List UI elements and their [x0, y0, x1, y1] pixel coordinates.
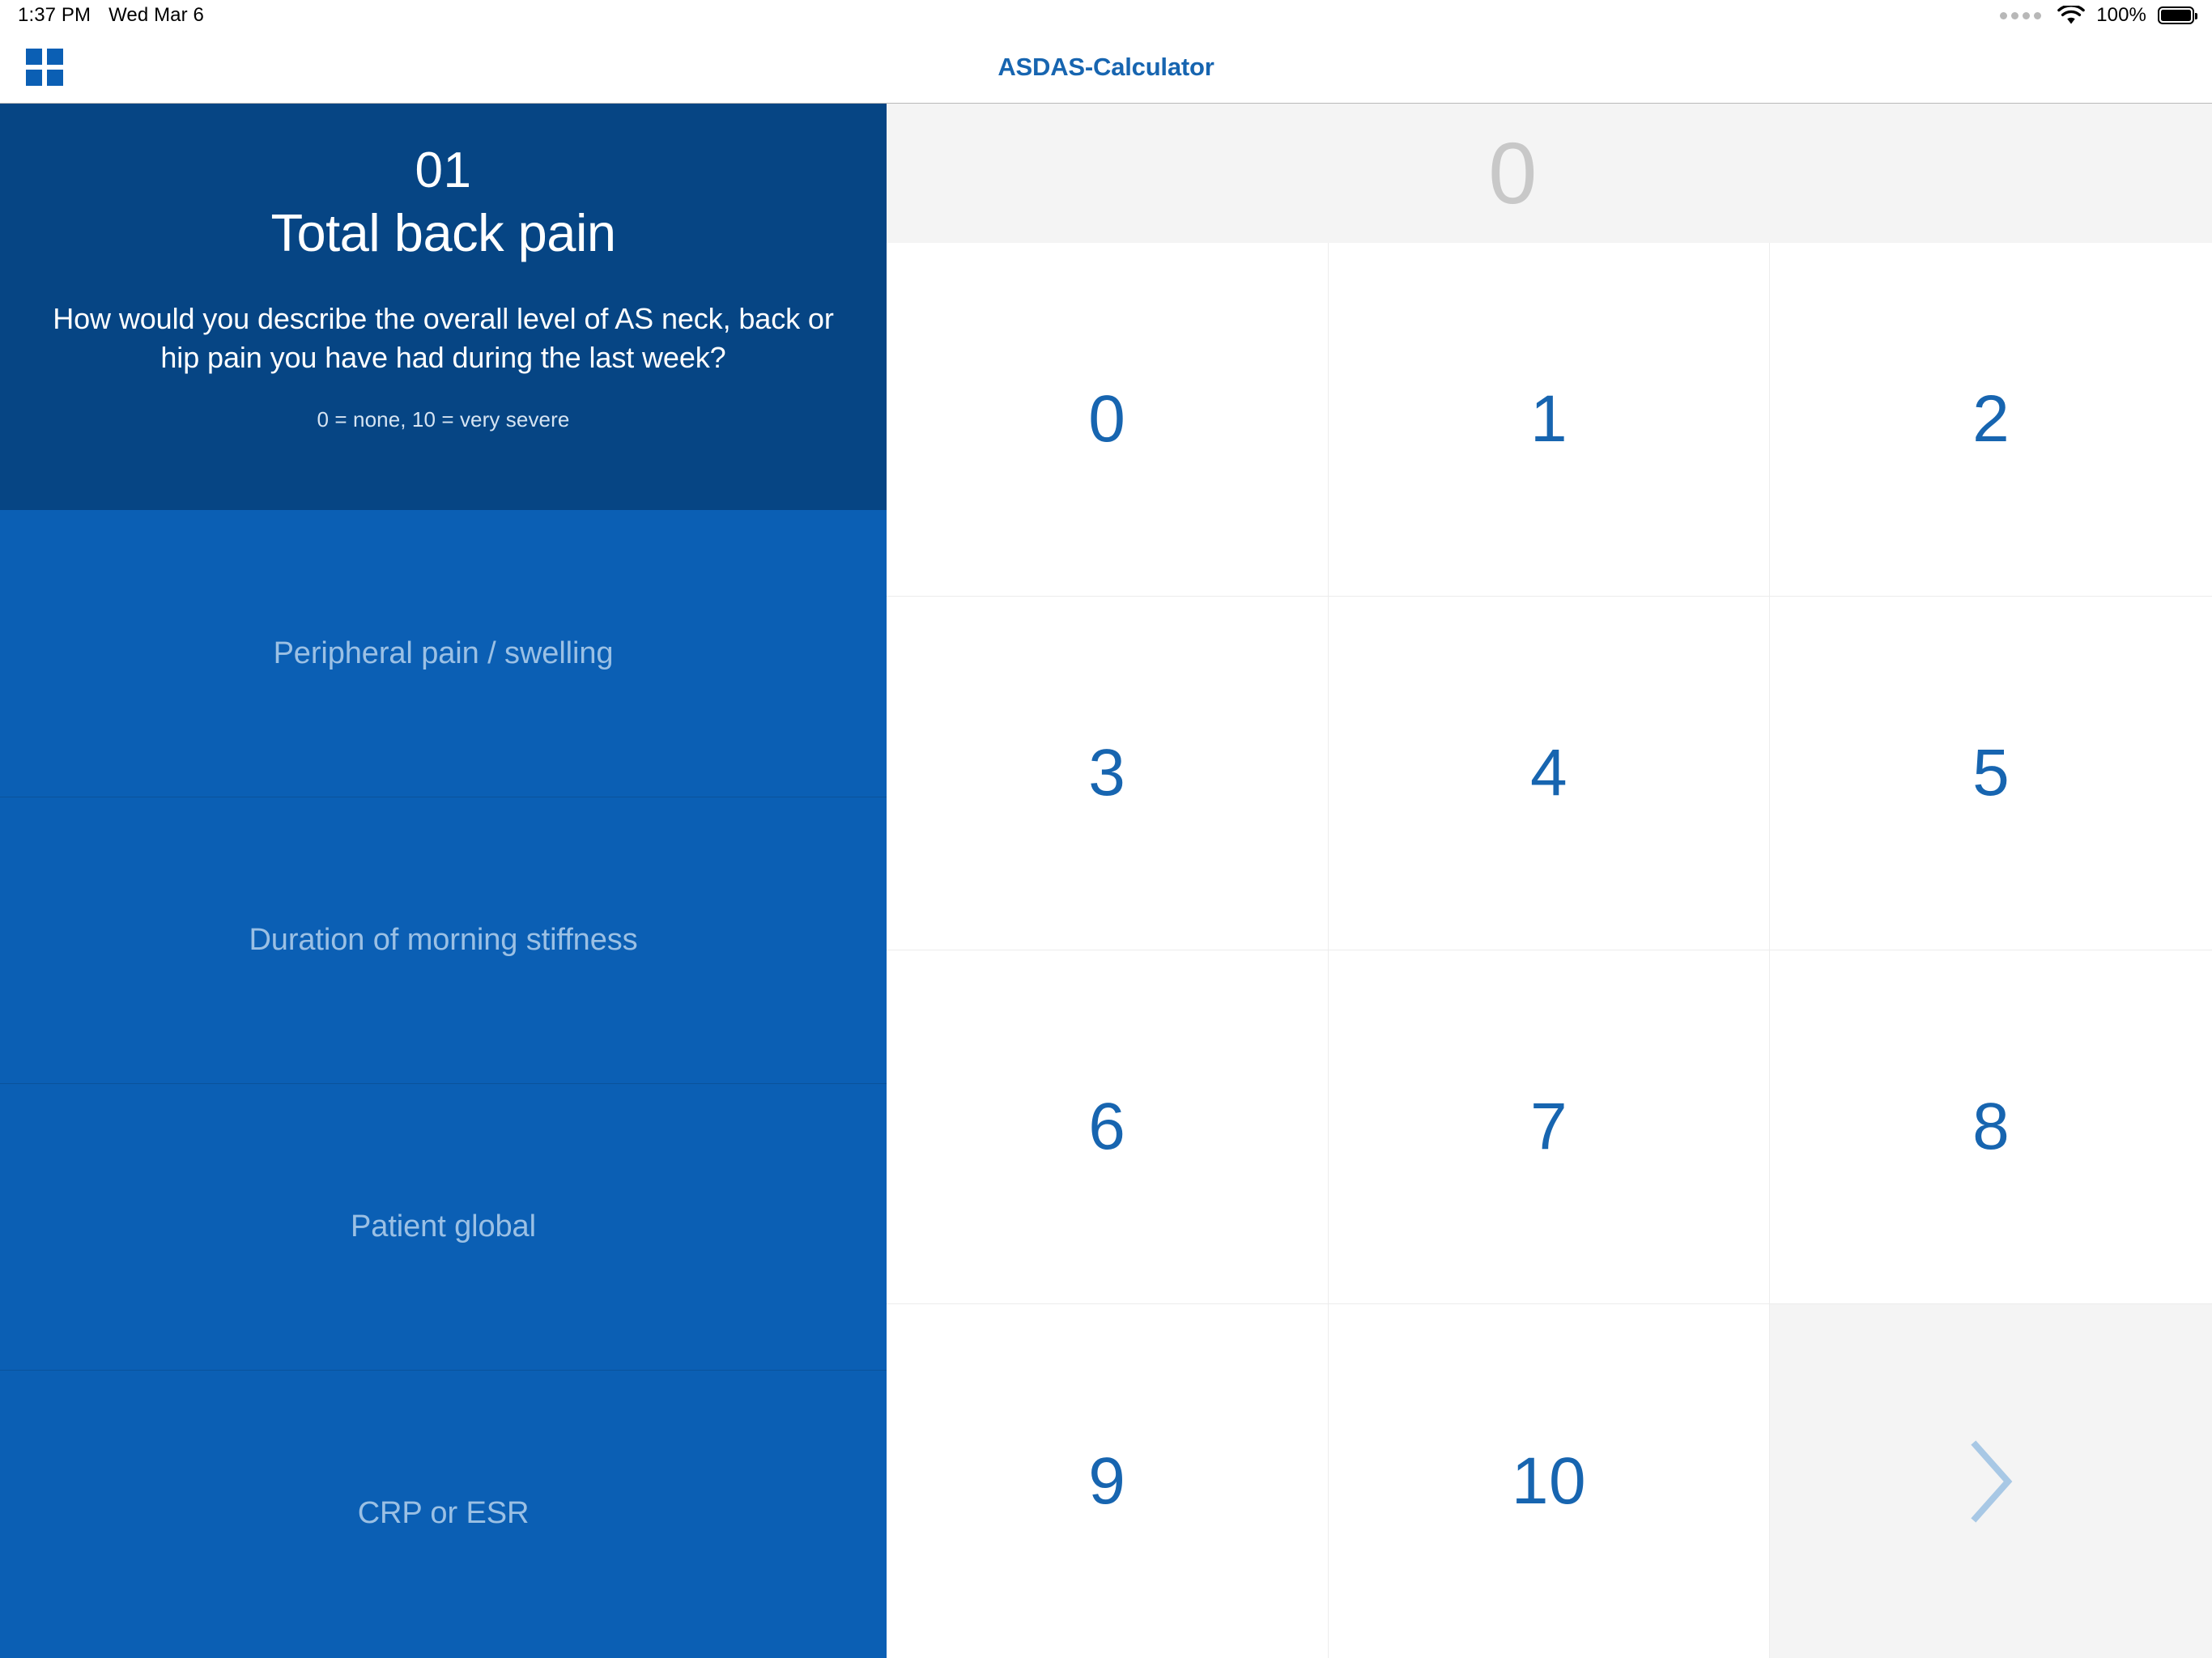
nav-bar: ASDAS-Calculator [0, 31, 2212, 104]
keypad-key-label: 5 [1972, 740, 2010, 806]
wifi-icon [2057, 6, 2085, 26]
keypad-key-5[interactable]: 5 [1770, 597, 2212, 950]
keypad-key-label: 8 [1972, 1094, 2010, 1160]
status-date: Wed Mar 6 [108, 4, 204, 27]
sidebar-item-label: CRP or ESR [358, 1496, 530, 1531]
status-time: 1:37 PM [18, 4, 91, 27]
app-root: 1:37 PM Wed Mar 6 100% ASDAS-Calculator … [0, 0, 2212, 1658]
status-bar-left: 1:37 PM Wed Mar 6 [18, 4, 204, 27]
keypad-key-label: 10 [1512, 1448, 1586, 1515]
signal-dots-icon [2000, 12, 2041, 19]
sidebar-item-label: Patient global [351, 1209, 536, 1244]
answer-panel: 0 0 1 2 3 4 5 6 7 [887, 104, 2212, 1658]
value-display: 0 [887, 104, 2212, 243]
sidebar-item-label: Duration of morning stiffness [249, 923, 637, 958]
keypad-key-3[interactable]: 3 [887, 597, 1329, 950]
question-title: Total back pain [39, 206, 848, 261]
question-number: 01 [39, 146, 848, 196]
sidebar-list: Peripheral pain / swelling Duration of m… [0, 510, 887, 1656]
keypad-key-6[interactable]: 6 [887, 950, 1329, 1304]
keypad-key-label: 3 [1088, 740, 1125, 806]
number-keypad: 0 1 2 3 4 5 6 7 8 [887, 243, 2212, 1658]
question-text: How would you describe the overall level… [39, 300, 848, 376]
question-scale-hint: 0 = none, 10 = very severe [39, 407, 848, 432]
keypad-key-label: 7 [1530, 1094, 1568, 1160]
app-title: ASDAS-Calculator [0, 31, 2212, 103]
keypad-key-label: 6 [1088, 1094, 1125, 1160]
keypad-key-4[interactable]: 4 [1329, 597, 1771, 950]
keypad-key-7[interactable]: 7 [1329, 950, 1771, 1304]
sidebar-item-total-back-pain[interactable]: 01 Total back pain How would you describ… [0, 104, 887, 510]
keypad-key-label: 1 [1530, 386, 1568, 453]
sidebar-item-patient-global[interactable]: Patient global [0, 1083, 887, 1370]
chevron-right-icon [1963, 1437, 2019, 1526]
keypad-key-label: 9 [1088, 1448, 1125, 1515]
keypad-key-2[interactable]: 2 [1770, 243, 2212, 597]
sidebar: 01 Total back pain How would you describ… [0, 104, 887, 1658]
keypad-key-label: 0 [1088, 386, 1125, 453]
battery-full-icon [2158, 6, 2194, 24]
keypad-key-0[interactable]: 0 [887, 243, 1329, 597]
keypad-key-9[interactable]: 9 [887, 1304, 1329, 1658]
status-bar-right: 100% [2000, 4, 2194, 27]
sidebar-item-duration-of-morning-stiffness[interactable]: Duration of morning stiffness [0, 797, 887, 1083]
sidebar-item-crp-or-esr[interactable]: CRP or ESR [0, 1370, 887, 1656]
value-display-text: 0 [1488, 130, 1538, 217]
keypad-key-1[interactable]: 1 [1329, 243, 1771, 597]
sidebar-item-label: Peripheral pain / swelling [274, 636, 614, 671]
next-question-button[interactable] [1770, 1304, 2212, 1658]
battery-percent-label: 100% [2096, 4, 2146, 27]
keypad-key-8[interactable]: 8 [1770, 950, 2212, 1304]
status-bar: 1:37 PM Wed Mar 6 100% [0, 0, 2212, 31]
keypad-key-label: 4 [1530, 740, 1568, 806]
sidebar-item-peripheral-pain-swelling[interactable]: Peripheral pain / swelling [0, 510, 887, 797]
keypad-key-10[interactable]: 10 [1329, 1304, 1771, 1658]
keypad-key-label: 2 [1972, 386, 2010, 453]
